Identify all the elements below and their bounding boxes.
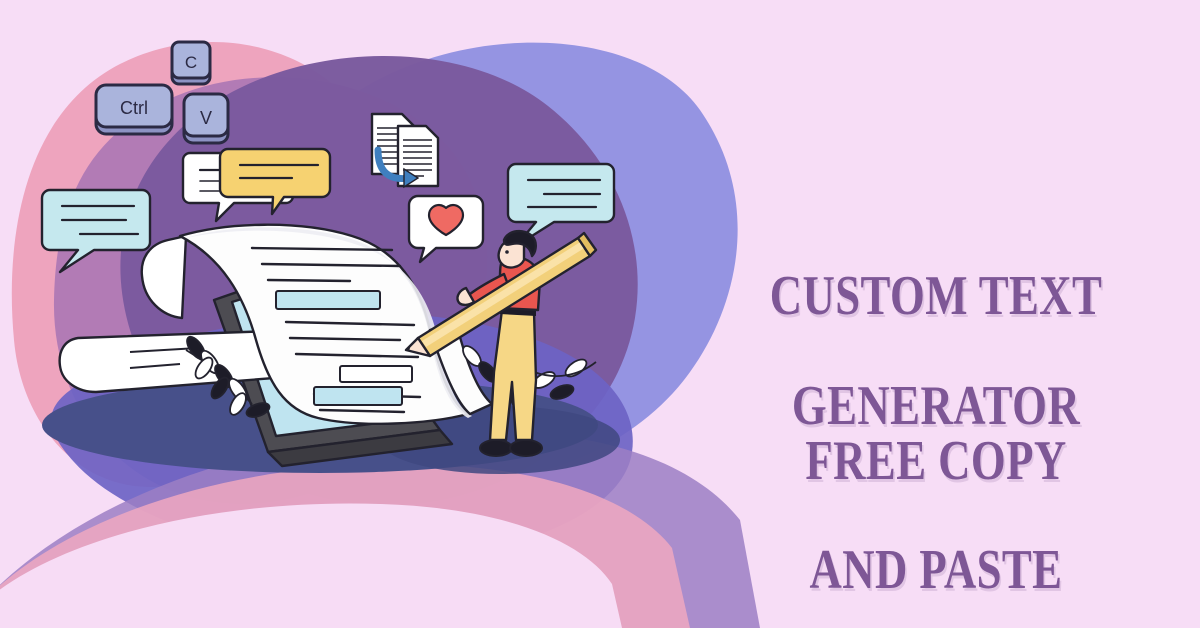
key-c-label: C bbox=[185, 53, 197, 72]
headline-line-1: Custom Text bbox=[736, 269, 1136, 324]
page-title: Custom Text Generator Free Copy and Past… bbox=[736, 214, 1136, 628]
heart-bubble bbox=[409, 196, 483, 262]
highlight-box-2 bbox=[340, 366, 412, 382]
headline-line-3: and Paste bbox=[736, 543, 1136, 598]
highlight-box-1 bbox=[276, 291, 380, 309]
highlight-box-3 bbox=[314, 387, 402, 405]
banner-canvas: .ln{stroke:#23222e;stroke-width:2.2;fill… bbox=[0, 0, 1200, 628]
copy-documents-icon bbox=[372, 114, 438, 187]
key-v-label: V bbox=[200, 108, 212, 128]
headline-line-2: Generator Free Copy bbox=[736, 379, 1136, 489]
speech-bubble-blue-left bbox=[42, 190, 150, 272]
speech-bubble-yellow bbox=[220, 149, 330, 214]
key-ctrl[interactable]: Ctrl bbox=[96, 85, 172, 134]
key-v[interactable]: V bbox=[184, 94, 228, 143]
key-ctrl-label: Ctrl bbox=[120, 98, 148, 118]
key-c[interactable]: C bbox=[172, 42, 210, 84]
